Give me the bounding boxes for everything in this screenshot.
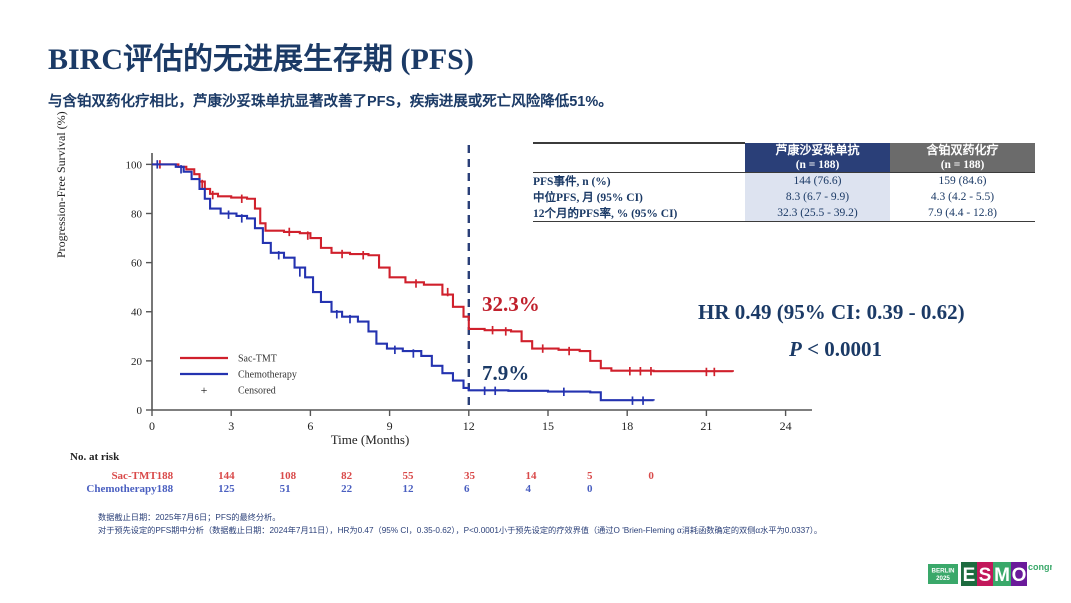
column-header-n: (n = 188) <box>890 158 1035 172</box>
svg-text:Chemotherapy: Chemotherapy <box>238 370 297 381</box>
column-header-chemo: 含铂双药化疗 (n = 188) <box>890 143 1035 172</box>
svg-text:40: 40 <box>131 307 143 319</box>
annotation-chemo-12mo: 7.9% <box>482 361 529 386</box>
page-subtitle: 与含铂双药化疗相比，芦康沙妥珠单抗显著改善了PFS，疾病进展或死亡风险降低51%… <box>48 90 613 111</box>
at-risk-row-chemo: Chemotherapy 188 125 51 22 12 6 4 0 <box>70 483 710 496</box>
x-axis-label: Time (Months) <box>0 432 750 448</box>
at-risk-value: 22 <box>341 483 402 496</box>
cell-12mo-pfs-rate-chemo: 7.9 (4.4 - 12.8) <box>890 205 1035 222</box>
annotation-sac-12mo: 32.3% <box>482 292 540 317</box>
kaplan-meier-chart: Progression-Free Survival (%) Time (Mont… <box>60 140 820 440</box>
at-risk-value: 0 <box>648 470 710 483</box>
svg-text:18: 18 <box>621 419 633 433</box>
at-risk-value: 125 <box>218 483 279 496</box>
svg-text:3: 3 <box>228 419 234 433</box>
svg-text:15: 15 <box>542 419 554 433</box>
svg-text:6: 6 <box>307 419 313 433</box>
column-header-label: 含铂双药化疗 <box>926 143 998 157</box>
at-risk-value <box>648 483 710 496</box>
logo-word: congress <box>1028 562 1052 572</box>
svg-text:0: 0 <box>149 419 155 433</box>
at-risk-value: 4 <box>525 483 586 496</box>
at-risk-value: 12 <box>403 483 464 496</box>
at-risk-value: 51 <box>280 483 341 496</box>
svg-text:9: 9 <box>387 419 393 433</box>
at-risk-value: 35 <box>464 470 525 483</box>
at-risk-value: 188 <box>157 470 218 483</box>
y-axis-label: Progression-Free Survival (%) <box>54 111 69 258</box>
km-plot-svg: 02040608010003691215182124Sac-TMTChemoth… <box>60 140 820 440</box>
svg-text:60: 60 <box>131 258 143 270</box>
at-risk-value: 14 <box>525 470 586 483</box>
svg-text:E: E <box>963 565 976 586</box>
at-risk-value: 6 <box>464 483 525 496</box>
at-risk-value: 144 <box>218 470 279 483</box>
esmo-congress-logo: BERLIN 2025 E S M O congress <box>928 558 1052 590</box>
svg-text:20: 20 <box>131 356 143 368</box>
at-risk-row-sac: Sac-TMT 188 144 108 82 55 35 14 5 0 <box>70 470 710 483</box>
at-risk-title: No. at risk <box>70 451 119 463</box>
at-risk-name-sac: Sac-TMT <box>70 470 157 483</box>
svg-text:Censored: Censored <box>238 386 276 397</box>
at-risk-name-chemo: Chemotherapy <box>70 483 157 496</box>
cell-median-pfs-chemo: 4.3 (4.2 - 5.5) <box>890 189 1035 205</box>
footnote-line-2: 对于预先设定的PFS期中分析（数据截止日期：2024年7月11日），HR为0.4… <box>98 525 1038 538</box>
at-risk-value: 108 <box>280 470 341 483</box>
svg-text:0: 0 <box>137 405 143 417</box>
svg-text:M: M <box>994 565 1010 586</box>
at-risk-value: 0 <box>587 483 648 496</box>
footnote-line-1: 数据截止日期：2025年7月6日；PFS的最终分析。 <box>98 512 1038 525</box>
cell-pfs-events-chemo: 159 (84.6) <box>890 172 1035 189</box>
at-risk-value: 55 <box>403 470 464 483</box>
svg-text:S: S <box>979 565 992 586</box>
page-title: BIRC评估的无进展生存期 (PFS) <box>48 34 474 78</box>
svg-text:Sac-TMT: Sac-TMT <box>238 354 277 365</box>
at-risk-value: 188 <box>157 483 218 496</box>
footnotes: 数据截止日期：2025年7月6日；PFS的最终分析。 对于预先设定的PFS期中分… <box>98 512 1038 537</box>
at-risk-table: Sac-TMT 188 144 108 82 55 35 14 5 0 Chem… <box>70 470 710 496</box>
svg-text:80: 80 <box>131 208 143 220</box>
svg-text:+: + <box>201 383 208 397</box>
at-risk-value: 5 <box>587 470 648 483</box>
svg-text:100: 100 <box>126 159 143 171</box>
svg-text:O: O <box>1012 565 1027 586</box>
logo-city: BERLIN <box>931 568 955 575</box>
svg-text:12: 12 <box>463 419 475 433</box>
slide-root: BIRC评估的无进展生存期 (PFS) 与含铂双药化疗相比，芦康沙妥珠单抗显著改… <box>0 0 1071 603</box>
at-risk-value: 82 <box>341 470 402 483</box>
svg-text:21: 21 <box>700 419 712 433</box>
svg-text:24: 24 <box>780 419 792 433</box>
logo-year: 2025 <box>936 575 950 582</box>
